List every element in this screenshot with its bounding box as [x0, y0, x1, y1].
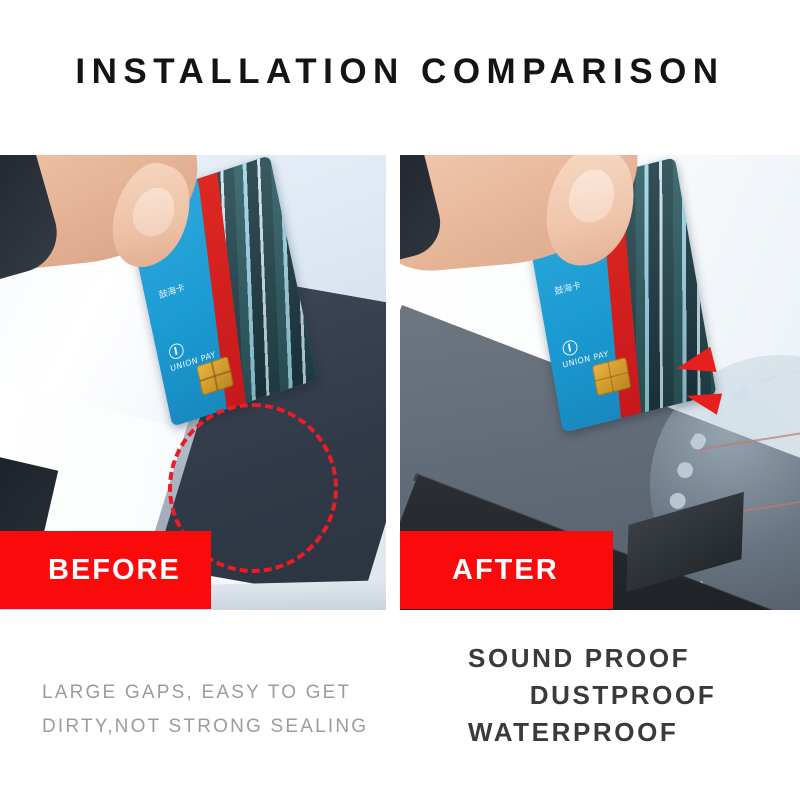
after-photo-panel: UNION PAY 鼓海卡 AFTER [400, 155, 800, 610]
before-caption-line-2: DIRTY,NOT STRONG SEALING [42, 710, 368, 744]
after-caption: SOUND PROOF DUSTPROOF WATERPROOF [468, 640, 778, 751]
before-photo-panel: UNION PAY 鼓海卡 BEFORE [0, 155, 386, 610]
after-caption-line-3: WATERPROOF [468, 714, 778, 751]
after-caption-line-2: DUSTPROOF [468, 677, 778, 714]
after-banner: AFTER [400, 531, 613, 609]
after-caption-line-1: SOUND PROOF [468, 640, 778, 677]
before-caption: LARGE GAPS, EASY TO GET DIRTY,NOT STRONG… [42, 676, 368, 744]
before-banner: BEFORE [0, 531, 211, 609]
before-label: BEFORE [48, 554, 181, 587]
after-label: AFTER [452, 554, 559, 587]
page-title: INSTALLATION COMPARISON [0, 52, 800, 92]
before-caption-line-1: LARGE GAPS, EASY TO GET [42, 676, 368, 710]
